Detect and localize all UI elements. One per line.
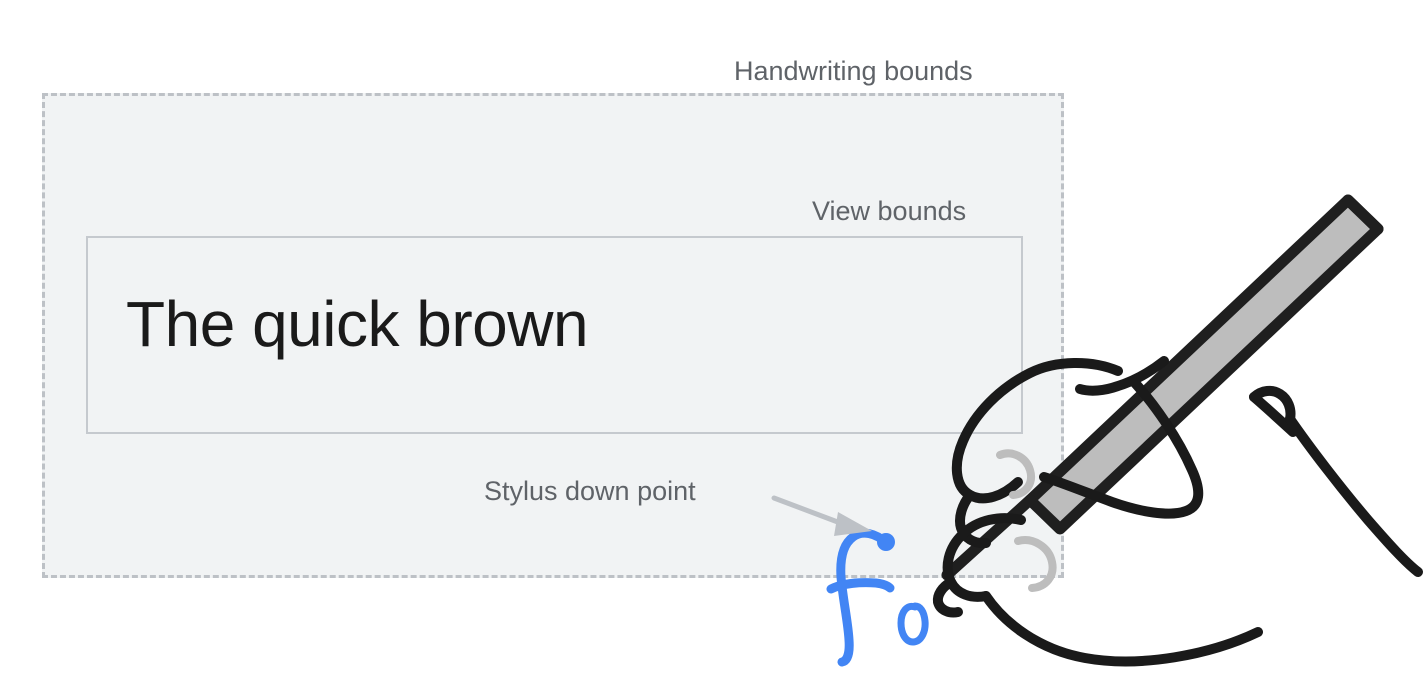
handwriting-bounds-label: Handwriting bounds [734,58,973,85]
stylus-down-point-label: Stylus down point [484,478,696,505]
palm-bottom-contour [986,596,1258,661]
recognized-text: The quick brown [126,292,588,356]
index-finger-tip-detail [1080,361,1164,391]
handwriting-demo-canvas: The quick brown Handwriting bounds View … [0,0,1427,688]
thumb-tip [938,582,958,613]
knuckle-crease [1254,397,1293,432]
ink-stroke-o [901,606,925,642]
knuckle-notch [1254,391,1291,419]
hand-outer-contour [1290,419,1418,572]
ink-stroke-f-crossbar [831,583,890,589]
stylus-pen-icon [1030,200,1378,529]
middle-finger-wedge [1044,383,1198,514]
view-bounds-label: View bounds [812,198,966,225]
